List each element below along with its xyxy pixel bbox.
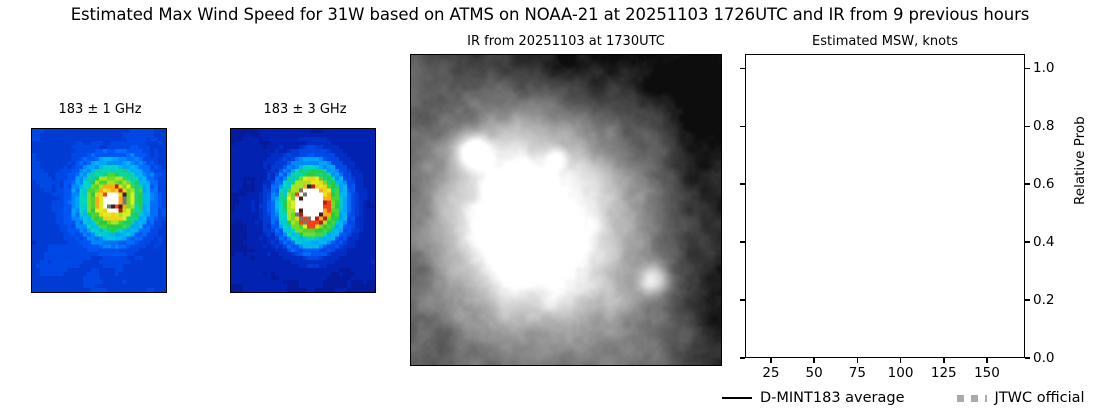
ir-image bbox=[410, 54, 722, 366]
y-axis-tick-label: 1.0 bbox=[1033, 60, 1054, 76]
microwave-183pm3-canvas bbox=[231, 129, 375, 292]
histogram-legend: D-MINT183 average JTWC official bbox=[722, 388, 1100, 408]
histogram-y-axis-label: Relative Prob bbox=[1072, 116, 1088, 205]
dotted-line-icon bbox=[957, 395, 987, 402]
microwave-183pm3-title: 183 ± 3 GHz bbox=[235, 102, 375, 118]
y-axis-tick-label: 0.2 bbox=[1033, 292, 1054, 308]
y-axis-tick bbox=[1025, 68, 1030, 70]
ir-canvas bbox=[411, 55, 721, 365]
x-axis-tick-label: 150 bbox=[974, 365, 1000, 381]
legend-item-dmint: D-MINT183 average bbox=[722, 390, 905, 406]
x-axis-tick-label: 75 bbox=[849, 365, 866, 381]
microwave-183pm3-image bbox=[230, 128, 376, 293]
histogram-axes: 2550751001251500.00.20.40.60.81.0 bbox=[745, 54, 1025, 358]
x-axis-tick bbox=[900, 358, 902, 363]
microwave-183pm1-canvas bbox=[32, 129, 166, 292]
x-axis-tick bbox=[943, 358, 945, 363]
y-axis-tick bbox=[740, 241, 745, 243]
solid-line-icon bbox=[722, 397, 752, 399]
y-axis-tick bbox=[1025, 241, 1030, 243]
x-axis-tick-label: 50 bbox=[806, 365, 823, 381]
histogram-title: Estimated MSW, knots bbox=[745, 34, 1025, 50]
x-axis-tick-label: 25 bbox=[762, 365, 779, 381]
microwave-183pm1-title: 183 ± 1 GHz bbox=[30, 102, 170, 118]
y-axis-tick bbox=[1025, 299, 1030, 301]
y-axis-tick bbox=[1025, 357, 1030, 359]
y-axis-tick bbox=[740, 68, 745, 70]
histogram-frame bbox=[745, 54, 1025, 358]
y-axis-tick-label: 0.6 bbox=[1033, 176, 1054, 192]
y-axis-tick bbox=[740, 357, 745, 359]
x-axis-tick bbox=[986, 358, 988, 363]
legend-label-jtwc: JTWC official bbox=[995, 390, 1085, 406]
y-axis-tick bbox=[1025, 126, 1030, 128]
x-axis-tick bbox=[770, 358, 772, 363]
y-axis-tick-label: 0.0 bbox=[1033, 350, 1054, 366]
y-axis-tick bbox=[740, 126, 745, 128]
legend-label-dmint: D-MINT183 average bbox=[760, 390, 905, 406]
x-axis-tick-label: 100 bbox=[888, 365, 914, 381]
y-axis-tick-label: 0.4 bbox=[1033, 234, 1054, 250]
y-axis-tick bbox=[740, 183, 745, 185]
y-axis-tick bbox=[740, 299, 745, 301]
legend-item-jtwc: JTWC official bbox=[957, 390, 1085, 406]
x-axis-tick bbox=[813, 358, 815, 363]
page-title: Estimated Max Wind Speed for 31W based o… bbox=[0, 4, 1100, 26]
ir-title: IR from 20251103 at 1730UTC bbox=[410, 34, 722, 50]
x-axis-tick bbox=[857, 358, 859, 363]
y-axis-tick-label: 0.8 bbox=[1033, 118, 1054, 134]
x-axis-tick-label: 125 bbox=[931, 365, 957, 381]
y-axis-tick bbox=[1025, 183, 1030, 185]
microwave-183pm1-image bbox=[31, 128, 167, 293]
